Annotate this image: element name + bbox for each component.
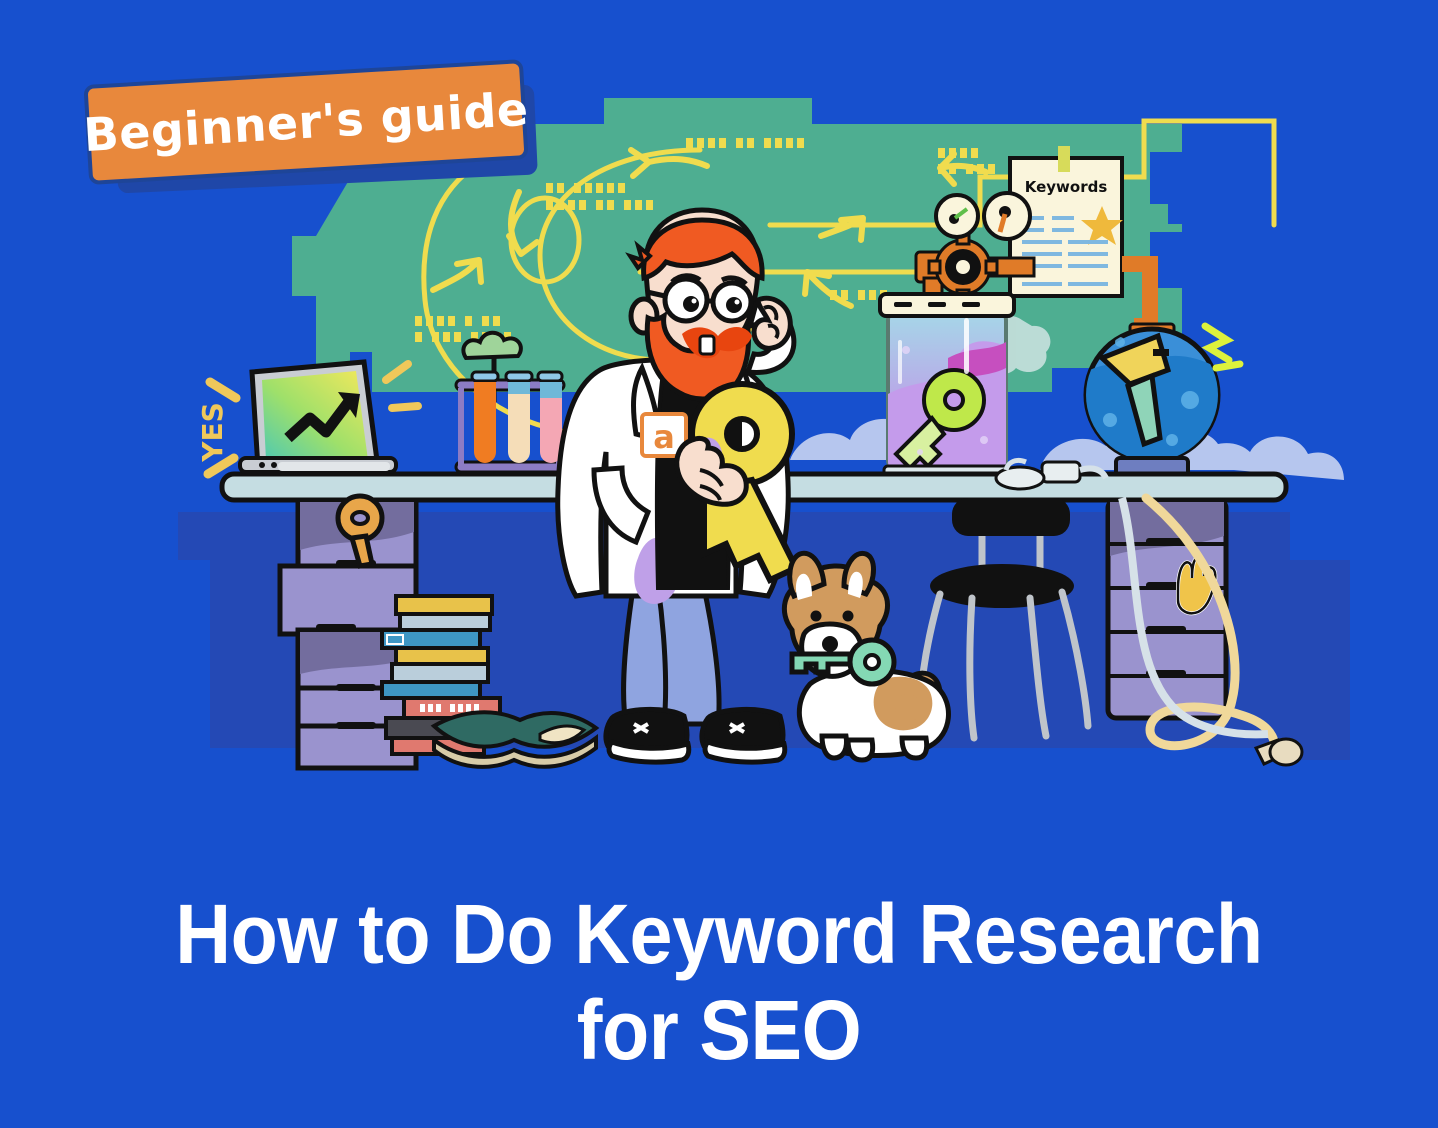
page-title: How to Do Keyword Research for SEO [58, 886, 1381, 1078]
page-title-line1: How to Do Keyword Research [58, 886, 1381, 982]
coat-badge-letter: a [653, 418, 675, 456]
badge-label: Beginner's guide [82, 82, 530, 162]
open-book [434, 712, 596, 767]
beginners-guide-badge: Beginner's guide [86, 72, 546, 192]
yes-label: YES [196, 402, 229, 463]
specimen-jar [880, 294, 1014, 480]
yes-marker: YES [196, 382, 236, 474]
poster-heading: Keywords [1025, 178, 1108, 196]
gauge-left [936, 195, 978, 237]
poster-canvas: Keywords [0, 0, 1438, 1128]
laptop [240, 362, 418, 472]
page-title-line2: for SEO [58, 982, 1381, 1078]
gauge-right [984, 193, 1030, 239]
